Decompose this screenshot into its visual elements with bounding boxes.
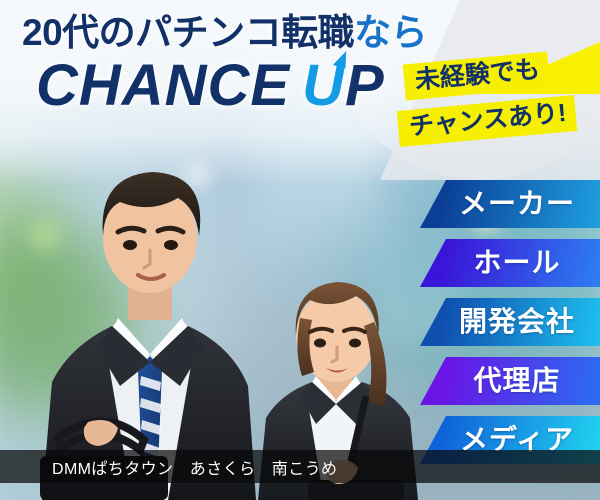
headline-line-1: 20代のパチンコ転職なら [22,14,422,51]
headline-group: 20代のパチンコ転職なら CHANCEUP [22,14,422,115]
category-band-label: 開発会社 [445,308,575,336]
category-band-list: メーカー ホール 開発会社 代理店 メディア [420,180,600,475]
category-band-label: 代理店 [459,367,560,395]
badge-line-2: チャンスあり! [397,95,577,147]
category-band-label: メーカー [445,190,575,218]
credit-strip: DMMぱちタウン あさくら 南こうめ [0,450,600,483]
logo-chance-text: CHANCE [36,53,290,118]
business-people-photo [0,150,440,500]
logo-p-letter: P [345,53,385,118]
logo-u-letter: U [302,57,345,115]
category-band-hall[interactable]: ホール [420,239,600,287]
badge-line-1: 未経験でも [403,52,551,101]
credit-text: DMMぱちタウン あさくら 南こうめ [52,455,337,479]
logo-up-group: UP [302,53,385,118]
no-experience-badge: 未経験でも チャンスあり! [398,58,598,154]
category-band-agency[interactable]: 代理店 [420,357,600,405]
recruit-banner: 20代のパチンコ転職なら CHANCEUP 未経験でも チャンスあり! メーカー… [0,0,600,500]
category-band-label: ホール [459,249,560,277]
chance-up-logo: CHANCEUP [36,57,422,115]
category-band-developer[interactable]: 開発会社 [420,298,600,346]
headline-accent-text: なら [354,12,427,53]
headline-main-text: 20代のパチンコ転職 [22,12,354,53]
category-band-maker[interactable]: メーカー [420,180,600,228]
people-illustration [0,150,440,500]
